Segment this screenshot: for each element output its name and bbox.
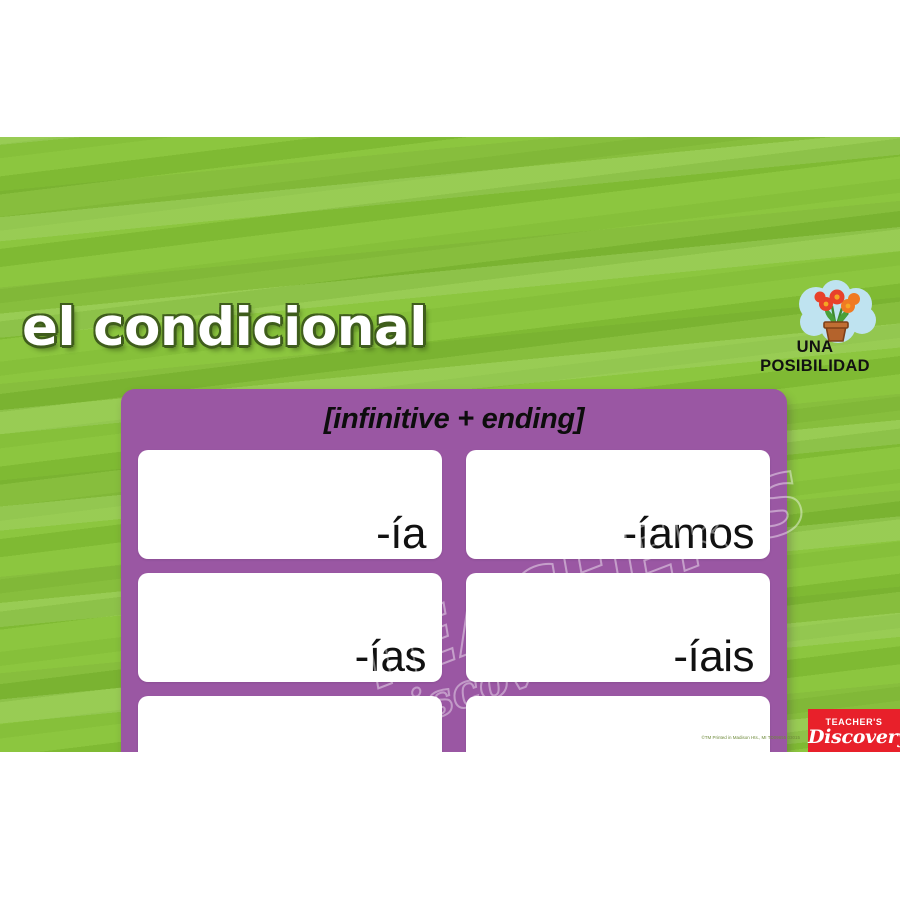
conjugation-cell: -ían bbox=[466, 696, 770, 752]
badge-line-1: UNA bbox=[742, 338, 888, 357]
poster-canvas: el condicional bbox=[0, 137, 900, 752]
copyright-text: ©TM Printed in Madison Hts., MI TD09655 … bbox=[701, 735, 800, 740]
conjugation-cell: -ía bbox=[138, 450, 442, 559]
conjugation-cell: -ía bbox=[138, 696, 442, 752]
panel-heading: [infinitive + ending] bbox=[121, 403, 787, 436]
conjugation-grid: -ía -íamos -ías -íais -ía -ían bbox=[138, 450, 770, 752]
possibility-badge: UNA POSIBILIDAD bbox=[742, 280, 888, 380]
conjugation-cell: -íamos bbox=[466, 450, 770, 559]
conjugation-ending: -íamos bbox=[623, 511, 754, 557]
conjugation-ending: -ías bbox=[355, 634, 426, 680]
poster-image: el condicional bbox=[0, 0, 900, 900]
conjugation-panel: [infinitive + ending] -ía -íamos -ías -í… bbox=[121, 389, 787, 752]
teachers-discovery-logo: TEACHER'S Discovery www.teachersdiscover… bbox=[808, 709, 900, 752]
logo-name-text: Discovery bbox=[808, 726, 900, 748]
conjugation-cell: -ías bbox=[138, 573, 442, 682]
badge-line-2: POSIBILIDAD bbox=[742, 357, 888, 376]
potted-flowers-icon bbox=[790, 280, 882, 344]
conjugation-ending: -íais bbox=[673, 634, 754, 680]
conjugation-cell: -íais bbox=[466, 573, 770, 682]
conjugation-ending: -ía bbox=[376, 511, 426, 557]
badge-label: UNA POSIBILIDAD bbox=[742, 338, 888, 376]
page-title: el condicional bbox=[22, 297, 427, 358]
